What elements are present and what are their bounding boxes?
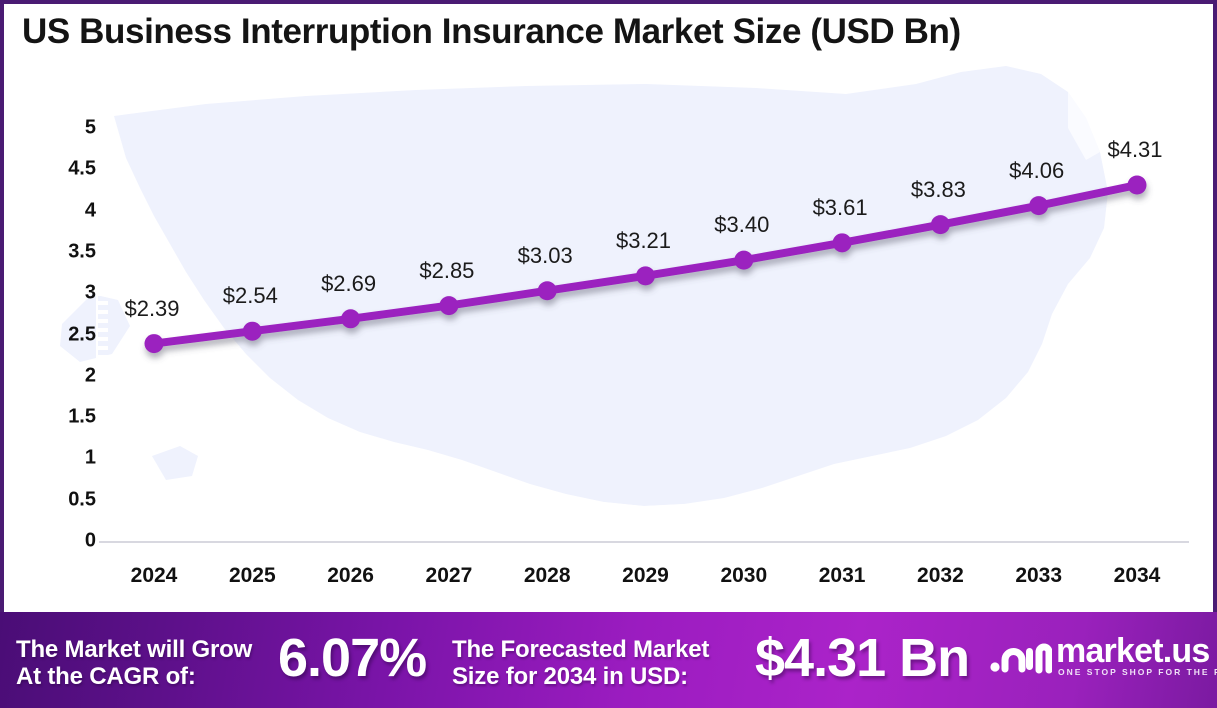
data-point-label: $2.85 [419,258,474,284]
data-point-label: $3.21 [616,228,671,254]
data-point-label: $3.40 [714,212,769,238]
logo-wordmark: market.us [1056,634,1209,668]
cagr-label: The Market will Grow At the CAGR of: [16,636,252,691]
data-point-marker[interactable] [341,309,360,328]
data-point-marker[interactable] [1128,175,1147,194]
data-point-marker[interactable] [1029,196,1048,215]
plot-area: 00.511.522.533.544.55 202420252026202720… [4,4,1213,608]
data-point-marker[interactable] [439,296,458,315]
data-point-marker[interactable] [145,334,164,353]
data-point-label: $3.61 [813,195,868,221]
infographic-page: US Business Interruption Insurance Marke… [0,0,1217,708]
logo-mark-icon [990,636,1052,676]
line-series [4,4,1213,608]
data-point-marker[interactable] [833,233,852,252]
data-point-marker[interactable] [538,281,557,300]
data-point-label: $2.69 [321,271,376,297]
data-point-label: $4.06 [1009,158,1064,184]
chart-frame: US Business Interruption Insurance Marke… [0,0,1217,612]
logo-tagline: ONE STOP SHOP FOR THE REPORTS [1058,667,1217,677]
data-point-marker[interactable] [931,215,950,234]
data-point-marker[interactable] [243,322,262,341]
data-point-label: $2.54 [223,283,278,309]
data-point-marker[interactable] [734,251,753,270]
data-point-label: $2.39 [124,296,179,322]
forecast-size-value: $4.31 Bn [755,628,969,690]
forecast-size-label: The Forecasted Market Size for 2034 in U… [452,636,709,691]
data-point-label: $3.03 [518,243,573,269]
market-us-logo[interactable]: market.us ONE STOP SHOP FOR THE REPORTS [990,634,1205,686]
data-point-marker[interactable] [636,266,655,285]
series-polyline [154,185,1137,344]
data-point-label: $3.83 [911,177,966,203]
page-title: US Business Interruption Insurance Marke… [22,12,1162,51]
data-point-label: $4.31 [1107,137,1162,163]
cagr-value: 6.07% [278,628,426,690]
